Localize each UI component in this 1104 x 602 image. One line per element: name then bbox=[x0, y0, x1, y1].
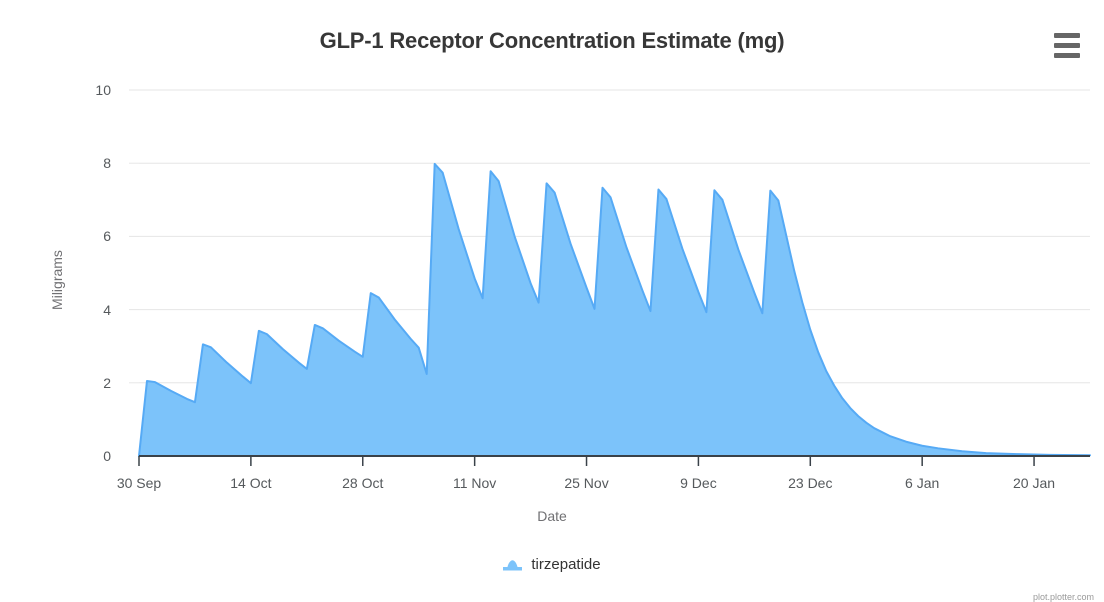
x-tick-label: 9 Dec bbox=[680, 476, 717, 490]
plot-area: 0246810 30 Sep14 Oct28 Oct11 Nov25 Nov9 … bbox=[0, 0, 1104, 600]
y-tick-label: 4 bbox=[71, 303, 111, 317]
y-tick-label: 8 bbox=[71, 156, 111, 170]
x-axis-title: Date bbox=[0, 508, 1104, 524]
credits-watermark: plot.plotter.com bbox=[1033, 592, 1094, 602]
x-tick-label: 14 Oct bbox=[230, 476, 271, 490]
chart-container: GLP-1 Receptor Concentration Estimate (m… bbox=[0, 0, 1104, 600]
legend-item-tirzepatide[interactable]: tirzepatide bbox=[503, 556, 600, 573]
legend-label: tirzepatide bbox=[531, 556, 600, 573]
x-tick-label: 11 Nov bbox=[453, 476, 496, 490]
x-tick-label: 25 Nov bbox=[564, 476, 608, 490]
area-swatch-icon bbox=[503, 558, 522, 571]
x-tick-label: 30 Sep bbox=[117, 476, 161, 490]
y-axis-title: Miligrams bbox=[49, 220, 65, 340]
x-tick-label: 28 Oct bbox=[342, 476, 383, 490]
chart-legend: tirzepatide bbox=[0, 556, 1104, 573]
y-tick-label: 6 bbox=[71, 229, 111, 243]
y-tick-label: 10 bbox=[71, 83, 111, 97]
x-tick-label: 6 Jan bbox=[905, 476, 939, 490]
y-tick-label: 2 bbox=[71, 376, 111, 390]
y-tick-label: 0 bbox=[71, 449, 111, 463]
x-tick-label: 23 Dec bbox=[788, 476, 832, 490]
x-tick-label: 20 Jan bbox=[1013, 476, 1055, 490]
